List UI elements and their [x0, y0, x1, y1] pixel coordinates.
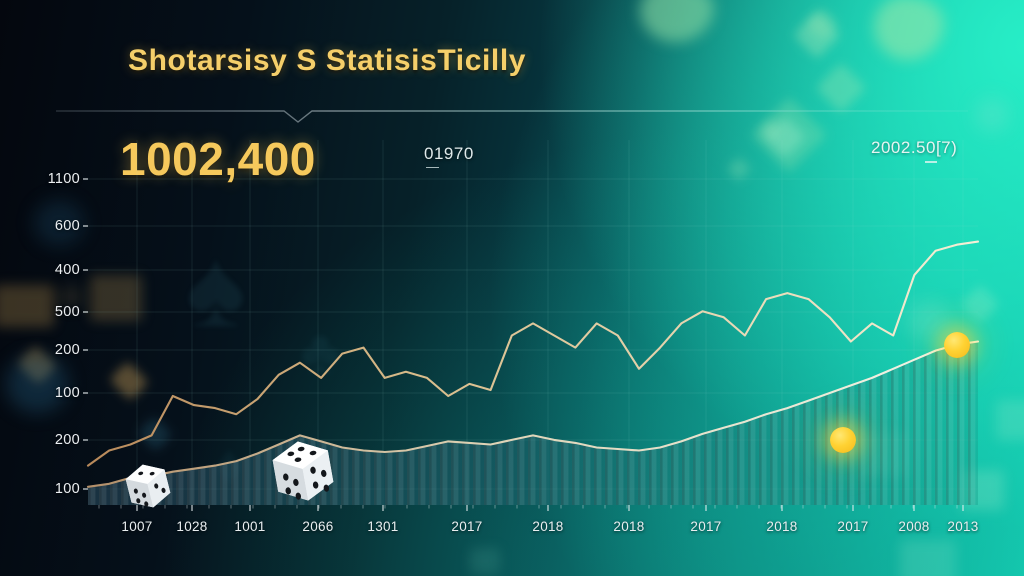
y-axis-tick-label: 400	[0, 262, 80, 278]
y-axis-tick-label: 100	[0, 481, 80, 497]
y-axis-tick-label: 1100	[0, 171, 80, 187]
y-axis-tick-label: 200	[0, 342, 80, 358]
x-axis-tick-label: 2018	[766, 519, 797, 534]
chip-low-marker	[830, 427, 856, 453]
x-axis-tick-label: 2018	[613, 519, 644, 534]
y-axis-tick-label: 100	[0, 385, 80, 401]
y-axis-tick-label: 500	[0, 304, 80, 320]
die-large-icon	[262, 432, 344, 510]
y-axis-tick-label: 200	[0, 432, 80, 448]
x-axis-tick-label: 1301	[367, 519, 398, 534]
x-axis-tick-label: 2066	[302, 519, 333, 534]
die-small-icon	[118, 458, 178, 514]
chip-high-marker	[944, 332, 970, 358]
x-axis-tick-label: 1001	[234, 519, 265, 534]
x-axis-tick-label: 2017	[837, 519, 868, 534]
y-axis-tick-label: 600	[0, 218, 80, 234]
poster-canvas: ♠ ♣ ♦ Shotarsisy S StatisisTicilly 1002,…	[0, 0, 1024, 576]
x-axis-tick-label: 2018	[532, 519, 563, 534]
x-axis-tick-label: 1007	[121, 519, 152, 534]
x-axis-tick-label: 2017	[451, 519, 482, 534]
x-axis-tick-label: 2013	[947, 519, 978, 534]
x-axis-tick-label: 2017	[690, 519, 721, 534]
chart-bars	[88, 172, 978, 505]
x-axis-tick-label: 2008	[898, 519, 929, 534]
x-axis-tick-label: 1028	[176, 519, 207, 534]
